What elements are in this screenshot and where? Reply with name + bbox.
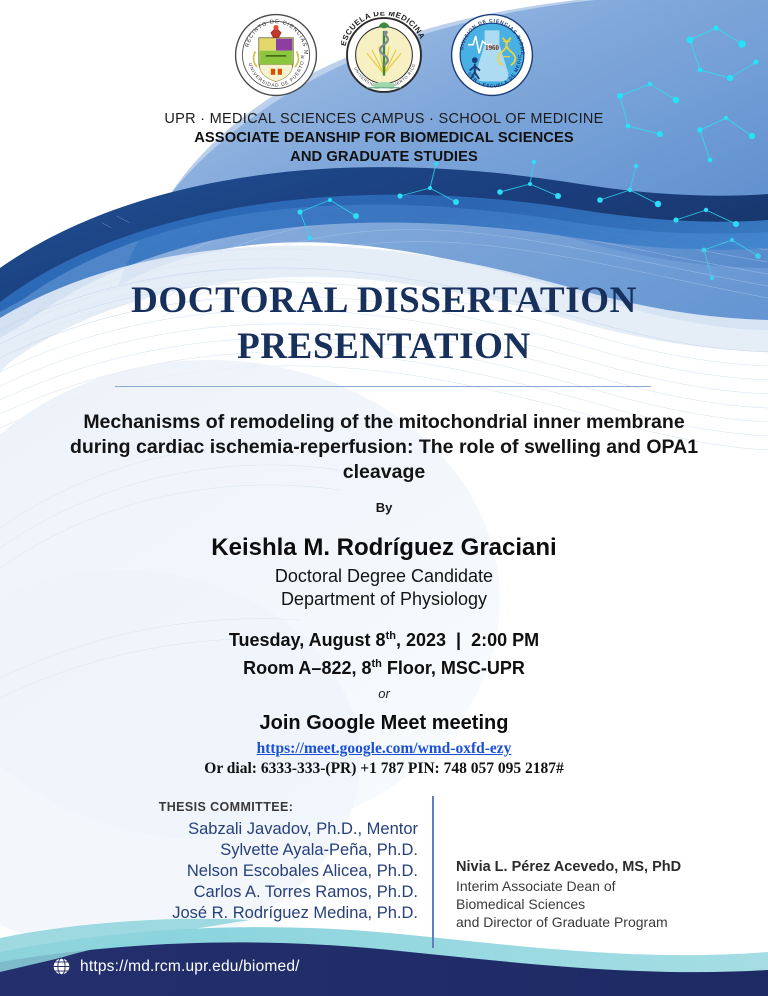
dean-signature-block: Nivia L. Pérez Acevedo, MS, PhD Interim … <box>456 858 736 931</box>
column-divider <box>432 796 434 948</box>
title-divider <box>115 386 651 387</box>
committee-member: Sabzali Javadov, Ph.D., Mentor <box>40 819 422 840</box>
svg-text:1960: 1960 <box>485 45 499 52</box>
institution-line-1: UPR · MEDICAL SCIENCES CAMPUS · SCHOOL O… <box>0 110 768 129</box>
escuela-de-medicina-seal: ESCUELA DE MEDICINA UNIVERSIDAD DE PUERT… <box>341 12 427 98</box>
event-room-prefix: Room A–822, 8 <box>243 658 371 678</box>
dean-title-line-2: Biomedical Sciences <box>456 895 736 913</box>
dean-title-line-3: and Director of Graduate Program <box>456 913 736 931</box>
event-date-ordinal: th <box>386 630 396 642</box>
event-room-ordinal: th <box>372 658 382 670</box>
thesis-committee-heading: THESIS COMMITTEE: <box>40 800 422 814</box>
committee-member: José R. Rodríguez Medina, Ph.D. <box>40 903 422 924</box>
upr-medical-sciences-campus-seal: RECINTO DE CIENCIAS MEDICAS UNIVERSIDAD … <box>233 12 319 98</box>
page-title: DOCTORAL DISSERTATION PRESENTATION <box>0 278 768 370</box>
poster-canvas: RECINTO DE CIENCIAS MEDICAS UNIVERSIDAD … <box>0 0 768 996</box>
by-label: By <box>0 500 768 515</box>
committee-member: Nelson Escobales Alicea, Ph.D. <box>40 861 422 882</box>
author-name: Keishla M. Rodríguez Graciani <box>0 533 768 562</box>
event-date-prefix: Tuesday, August 8 <box>229 630 386 650</box>
globe-icon <box>52 957 71 976</box>
event-date-suffix: , 2023 <box>396 630 446 650</box>
committee-member: Sylvette Ayala-Peña, Ph.D. <box>40 840 422 861</box>
author-details: Doctoral Degree Candidate Department of … <box>0 565 768 611</box>
page-title-line-1: DOCTORAL DISSERTATION <box>0 278 768 324</box>
dissertation-title: Mechanisms of remodeling of the mitochon… <box>56 410 712 485</box>
footer-url-block[interactable]: https://md.rcm.upr.edu/biomed/ <box>52 957 300 976</box>
dean-title-line-1: Interim Associate Dean of <box>456 877 736 895</box>
logo-row: RECINTO DE CIENCIAS MEDICAS UNIVERSIDAD … <box>0 12 768 98</box>
author-department-label: Department of Physiology <box>0 588 768 611</box>
institution-line-2: ASSOCIATE DEANSHIP FOR BIOMEDICAL SCIENC… <box>0 129 768 148</box>
event-location-line: Room A–822, 8th Floor, MSC-UPR <box>0 652 768 680</box>
institution-header: UPR · MEDICAL SCIENCES CAMPUS · SCHOOL O… <box>0 110 768 167</box>
page-title-line-2: PRESENTATION <box>0 324 768 370</box>
division-ciencias-biomedicas-seal: DIVISION DE CIENCIAS BIOMEDICAS UPR - ES… <box>449 12 535 98</box>
google-meet-link[interactable]: https://meet.google.com/wmd-oxfd-ezy <box>0 740 768 758</box>
join-meeting-label: Join Google Meet meeting <box>0 712 768 735</box>
event-separator: | <box>456 630 461 650</box>
institution-line-3: AND GRADUATE STUDIES <box>0 148 768 167</box>
author-role-label: Doctoral Degree Candidate <box>0 565 768 588</box>
dial-in-info: Or dial: 6333-333-(PR) +1 787 PIN: 748 0… <box>0 760 768 778</box>
dean-name: Nivia L. Pérez Acevedo, MS, PhD <box>456 858 736 877</box>
event-datetime-line: Tuesday, August 8th, 2023 | 2:00 PM <box>0 624 768 652</box>
or-label: or <box>0 686 768 701</box>
event-details: Tuesday, August 8th, 2023 | 2:00 PM Room… <box>0 624 768 680</box>
committee-member: Carlos A. Torres Ramos, Ph.D. <box>40 882 422 903</box>
event-time: 2:00 PM <box>471 630 539 650</box>
footer-url-text[interactable]: https://md.rcm.upr.edu/biomed/ <box>80 958 300 976</box>
thesis-committee-block: THESIS COMMITTEE: Sabzali Javadov, Ph.D.… <box>40 800 422 924</box>
event-room-suffix: Floor, MSC-UPR <box>382 658 525 678</box>
